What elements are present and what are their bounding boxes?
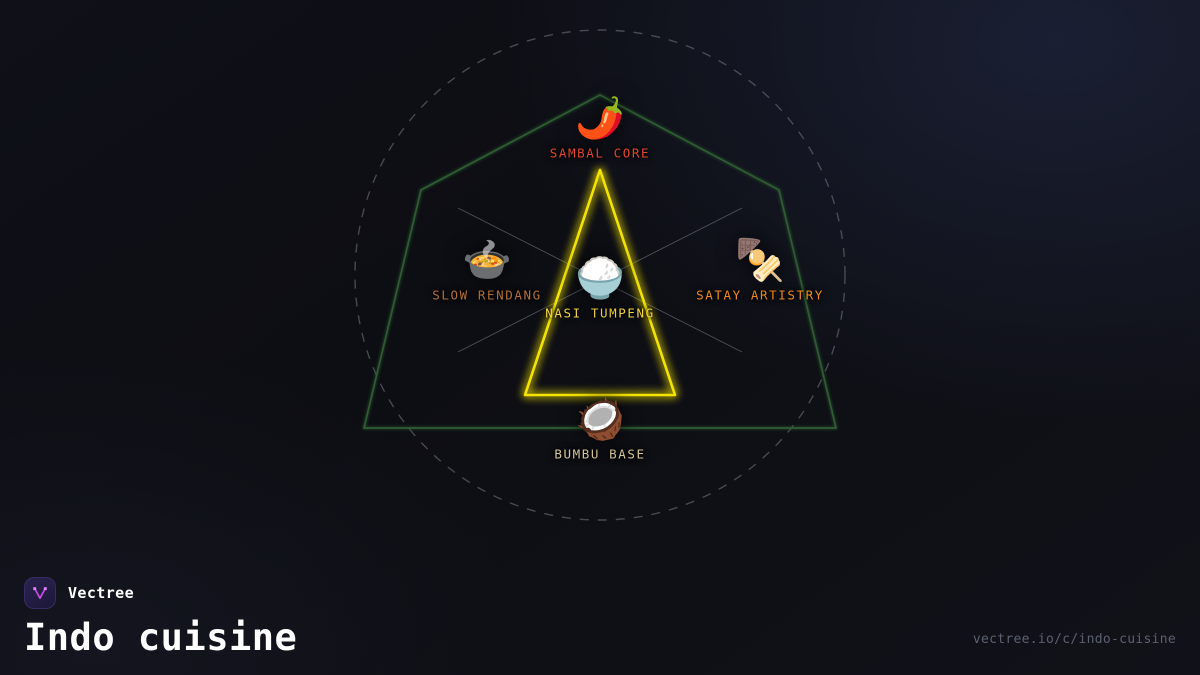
page-title: Indo cuisine [24, 618, 297, 658]
graph-node-label: SATAY ARTISTRY [696, 288, 824, 303]
brand-name: Vectree [68, 584, 134, 602]
vectree-logo-icon [24, 577, 56, 609]
graph-node-label: SAMBAL CORE [550, 146, 650, 161]
coconut-icon: 🥥 [575, 397, 625, 443]
graph-node-nasi-tumpeng[interactable]: 🍚NASI TUMPENG [485, 256, 715, 321]
footer-url: vectree.io/c/indo-cuisine [973, 632, 1176, 647]
chili-pepper-icon: 🌶️ [575, 96, 625, 142]
footer-left-group: Vectree Indo cuisine [24, 577, 297, 658]
app-root: 🌶️SAMBAL CORE🍲SLOW RENDANG🍢SATAY ARTISTR… [0, 0, 1200, 675]
graph-node-label: BUMBU BASE [554, 447, 645, 462]
graph-node-sambal-core[interactable]: 🌶️SAMBAL CORE [485, 96, 715, 161]
graph-node-bumbu-base[interactable]: 🥥BUMBU BASE [485, 397, 715, 462]
graph-node-label: NASI TUMPENG [545, 306, 655, 321]
footer-bar: Vectree Indo cuisine vectree.io/c/indo-c… [0, 555, 1200, 675]
brand-row[interactable]: Vectree [24, 577, 297, 609]
oden-skewer-icon: 🍢 [735, 238, 785, 284]
rice-bowl-icon: 🍚 [575, 256, 625, 302]
